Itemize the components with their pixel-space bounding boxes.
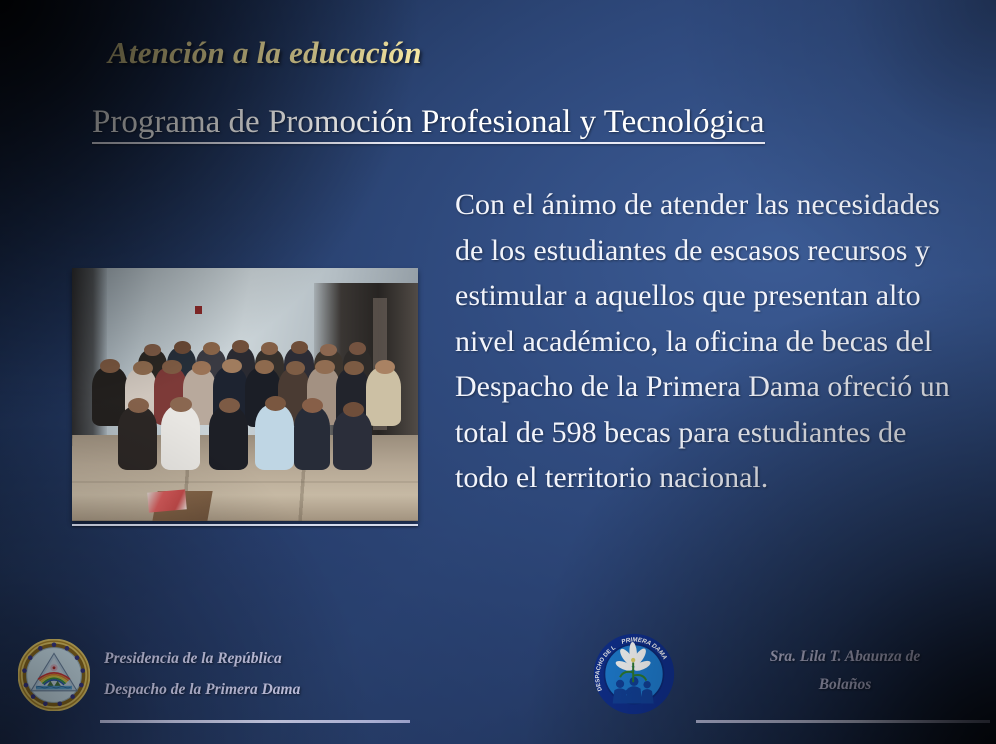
despacho-primera-dama-logo: DESPACHO DE LA PRIMERA DAMA	[593, 633, 675, 715]
subtitle-underline	[92, 142, 765, 144]
photo-red-folder	[147, 489, 187, 512]
slide-subtitle: Programa de Promoción Profesional y Tecn…	[92, 104, 765, 144]
photo-bottom-rule	[72, 524, 418, 526]
photo-wall-mark	[195, 306, 202, 314]
footer-rule-right	[696, 720, 990, 723]
page-title: Atención a la educación	[108, 35, 422, 71]
footer-rule-left	[100, 720, 410, 723]
group-photo-image	[72, 268, 418, 521]
footer-right-line1: Sra. Lila T. Abaunza de	[700, 643, 990, 671]
national-seal-icon	[18, 639, 90, 711]
group-photo	[72, 268, 418, 521]
photo-crowd	[86, 354, 411, 470]
body-paragraph: Con el ánimo de atender las necesidades …	[455, 182, 950, 501]
footer-right-line2: Bolaños	[700, 671, 990, 699]
footer-left-line1: Presidencia de la República	[104, 643, 414, 674]
footer-left-text: Presidencia de la República Despacho de …	[104, 643, 414, 705]
slide-subtitle-text: Programa de Promoción Profesional y Tecn…	[92, 104, 765, 140]
footer-right-text: Sra. Lila T. Abaunza de Bolaños	[700, 643, 990, 699]
slide: Atención a la educación Programa de Prom…	[0, 0, 996, 744]
footer-left-line2: Despacho de la Primera Dama	[104, 674, 414, 705]
